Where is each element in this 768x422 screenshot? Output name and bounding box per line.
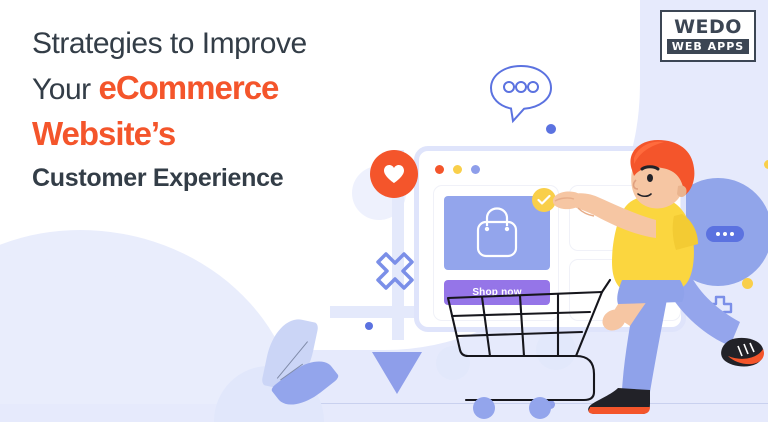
yellow-dot-icon	[453, 165, 462, 174]
cross-x-icon	[372, 248, 418, 294]
logo-primary-text: WEDO	[674, 18, 742, 37]
blue-dot-accent-1	[546, 124, 556, 134]
headline-line-4: Customer Experience	[32, 156, 392, 200]
headline-line-2-plain: Your	[32, 73, 91, 106]
triangle-shape	[372, 352, 422, 394]
banner-canvas: Strategies to Improve Your eCommerce Web…	[0, 0, 768, 422]
red-dot-icon	[435, 165, 444, 174]
pointing-arm-illustration	[552, 176, 662, 246]
shopping-bag-icon	[472, 206, 522, 260]
logo-secondary-text: WEB APPS	[667, 39, 749, 54]
headline-accent-ecommerce: eCommerce	[98, 69, 278, 106]
purple-dot-icon	[471, 165, 480, 174]
headline-line-1: Strategies to Improve	[32, 22, 392, 66]
browser-traffic-dots	[435, 165, 480, 174]
headline-line-3: Website’s	[32, 112, 392, 156]
headline-block: Strategies to Improve Your eCommerce Web…	[32, 22, 392, 200]
blue-dot-accent-2	[365, 322, 373, 330]
heart-glyph	[383, 164, 405, 184]
check-glyph	[537, 194, 551, 206]
headline-line-2: Your eCommerce	[32, 66, 392, 112]
leaf-stem-lines	[266, 340, 322, 396]
heart-badge-icon	[370, 150, 418, 198]
wedo-web-apps-logo[interactable]: WEDO WEB APPS	[660, 10, 756, 62]
speech-bubble-icon	[488, 62, 554, 124]
